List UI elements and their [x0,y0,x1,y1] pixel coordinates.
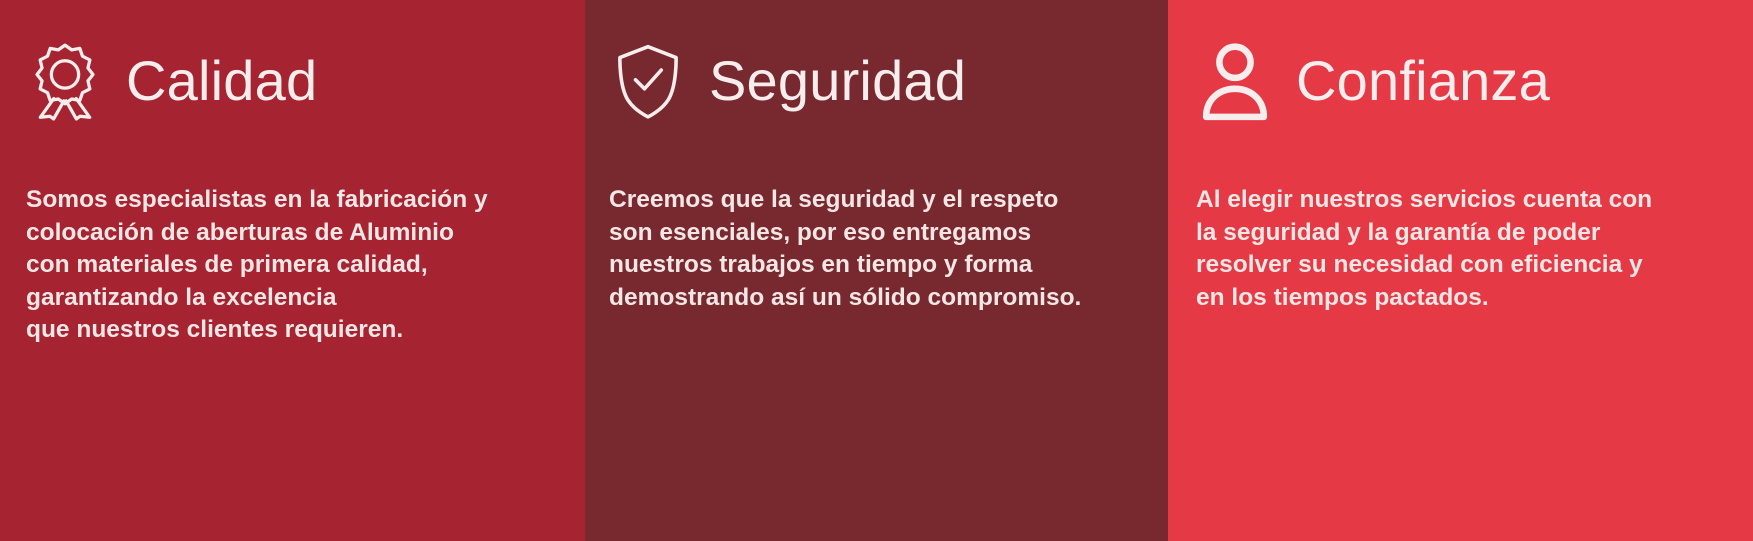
panel-title-trust: Confianza [1296,53,1550,109]
features-band: Calidad Somos especialistas en la fabric… [0,0,1753,541]
panel-header-trust: Confianza [1168,0,1753,128]
panel-body-safety: Creemos que la seguridad y el respeto so… [585,128,1168,314]
feature-panel-safety: Seguridad Creemos que la seguridad y el … [585,0,1168,541]
panel-body-trust: Al elegir nuestros servicios cuenta con … [1168,128,1753,314]
panel-title-quality: Calidad [126,53,317,109]
award-ribbon-icon [26,40,104,122]
feature-panel-trust: Confianza Al elegir nuestros servicios c… [1168,0,1753,541]
panel-body-quality: Somos especialistas en la fabricación y … [0,128,585,347]
panel-header-safety: Seguridad [585,0,1168,128]
feature-panel-quality: Calidad Somos especialistas en la fabric… [0,0,585,541]
person-icon [1196,40,1274,122]
panel-header-quality: Calidad [0,0,585,128]
shield-check-icon [609,40,687,122]
panel-title-safety: Seguridad [709,53,966,109]
